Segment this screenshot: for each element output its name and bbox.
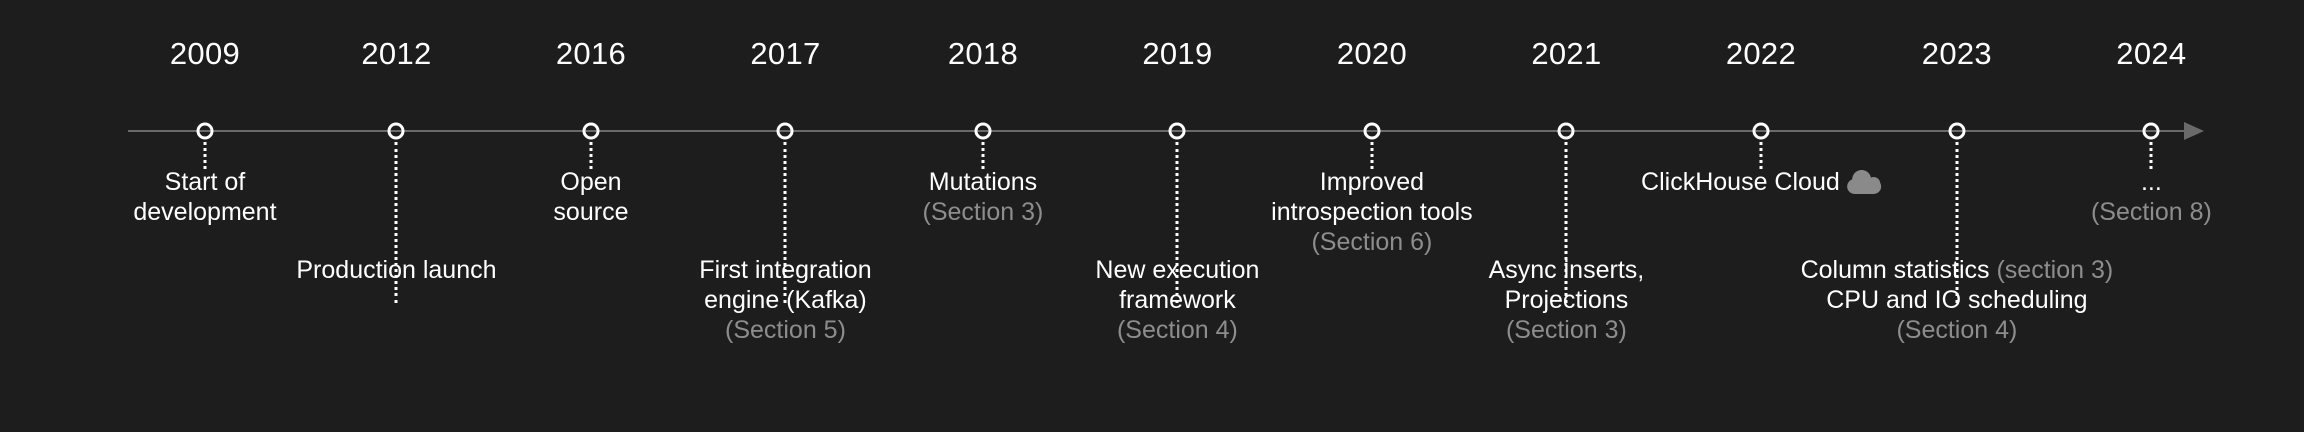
event-label-text: Start of (165, 168, 246, 196)
event-section-ref: (Section 4) (1801, 316, 2114, 346)
timeline-diagram: 2009Start ofdevelopment2012Production la… (0, 0, 2304, 432)
event-year-label: 2017 (750, 36, 820, 72)
event-label-line: New execution (1095, 256, 1259, 286)
event-section-ref: (Section 3) (1489, 316, 1645, 346)
event-label-text: framework (1119, 286, 1236, 314)
event-label-line: source (553, 198, 628, 228)
event-label-text: New execution (1095, 256, 1259, 284)
event-year-label: 2016 (556, 36, 626, 72)
event-marker-dot-icon (777, 123, 794, 140)
event-year-label: 2021 (1531, 36, 1601, 72)
event-label-text: source (553, 198, 628, 226)
event-connector-line (981, 142, 984, 169)
event-inline-section-ref: (section 3) (1996, 256, 2113, 284)
event-label-text: Improved (1320, 168, 1424, 196)
cloud-icon (1847, 170, 1881, 194)
event-label-block: Improvedintrospection tools(Section 6) (1271, 168, 1473, 257)
event-label-line: introspection tools (1271, 198, 1473, 228)
event-section-ref: (Section 5) (699, 316, 871, 346)
event-label-line: Projections (1489, 286, 1645, 316)
event-connector-line (2150, 142, 2153, 169)
event-label-block: Async inserts,Projections(Section 3) (1489, 256, 1645, 345)
event-label-block: New executionframework(Section 4) (1095, 256, 1259, 345)
event-label-text: ... (2141, 168, 2162, 196)
event-label-block: Opensource (553, 168, 628, 228)
event-label-text: Mutations (929, 168, 1037, 196)
event-section-ref: (Section 3) (922, 198, 1043, 228)
timeline-axis-line (128, 130, 2190, 132)
event-label-block: ...(Section 8) (2091, 168, 2212, 228)
event-section-ref: (Section 4) (1095, 316, 1259, 346)
event-label-text: ClickHouse Cloud (1641, 168, 1840, 196)
event-label-text: introspection tools (1271, 198, 1473, 226)
event-label-line: Production launch (296, 256, 496, 286)
event-marker-dot-icon (196, 123, 213, 140)
event-marker-dot-icon (1558, 123, 1575, 140)
event-label-text: First integration (699, 256, 871, 284)
event-label-line: Improved (1271, 168, 1473, 198)
event-marker-dot-icon (1363, 123, 1380, 140)
event-label-text: Production launch (296, 256, 496, 284)
event-label-line: development (133, 198, 276, 228)
event-year-label: 2024 (2116, 36, 2186, 72)
event-year-label: 2012 (361, 36, 431, 72)
event-label-text: Open (560, 168, 621, 196)
event-marker-dot-icon (1752, 123, 1769, 140)
event-label-text: Column statistics (1801, 256, 1997, 284)
event-connector-line (203, 142, 206, 169)
event-marker-dot-icon (974, 123, 991, 140)
event-label-text: Async inserts, (1489, 256, 1645, 284)
event-marker-dot-icon (582, 123, 599, 140)
event-connector-line (589, 142, 592, 169)
event-label-line: Column statistics (section 3) (1801, 256, 2114, 286)
event-label-text: CPU and IO scheduling (1826, 286, 2087, 314)
event-label-line: framework (1095, 286, 1259, 316)
event-year-label: 2018 (948, 36, 1018, 72)
event-label-text: engine (Kafka) (704, 286, 867, 314)
event-year-label: 2019 (1142, 36, 1212, 72)
event-marker-dot-icon (1948, 123, 1965, 140)
event-year-label: 2023 (1922, 36, 1992, 72)
event-label-line: engine (Kafka) (699, 286, 871, 316)
event-label-block: Production launch (296, 256, 496, 286)
event-marker-dot-icon (388, 123, 405, 140)
event-label-line: CPU and IO scheduling (1801, 286, 2114, 316)
event-marker-dot-icon (1169, 123, 1186, 140)
event-label-text: Projections (1505, 286, 1629, 314)
event-label-line: Start of (133, 168, 276, 198)
event-label-block: Mutations(Section 3) (922, 168, 1043, 228)
cloud-icon-bump (1867, 177, 1880, 190)
event-label-line: ... (2091, 168, 2212, 198)
event-year-label: 2022 (1726, 36, 1796, 72)
event-label-line: Mutations (922, 168, 1043, 198)
timeline-axis-arrow-icon (2184, 122, 2204, 140)
event-year-label: 2009 (170, 36, 240, 72)
event-label-text: development (133, 198, 276, 226)
event-label-block: ClickHouse Cloud (1641, 168, 1881, 198)
event-connector-line (1759, 142, 1762, 169)
event-label-line: Open (553, 168, 628, 198)
event-label-line: First integration (699, 256, 871, 286)
event-connector-line (1370, 142, 1373, 169)
event-marker-dot-icon (2143, 123, 2160, 140)
event-label-line: Async inserts, (1489, 256, 1645, 286)
event-label-block: Start ofdevelopment (133, 168, 276, 228)
event-section-ref: (Section 6) (1271, 228, 1473, 258)
event-label-block: Column statistics (section 3)CPU and IO … (1801, 256, 2114, 345)
event-year-label: 2020 (1337, 36, 1407, 72)
event-label-block: First integrationengine (Kafka)(Section … (699, 256, 871, 345)
event-section-ref: (Section 8) (2091, 198, 2212, 228)
event-label-line: ClickHouse Cloud (1641, 168, 1881, 198)
